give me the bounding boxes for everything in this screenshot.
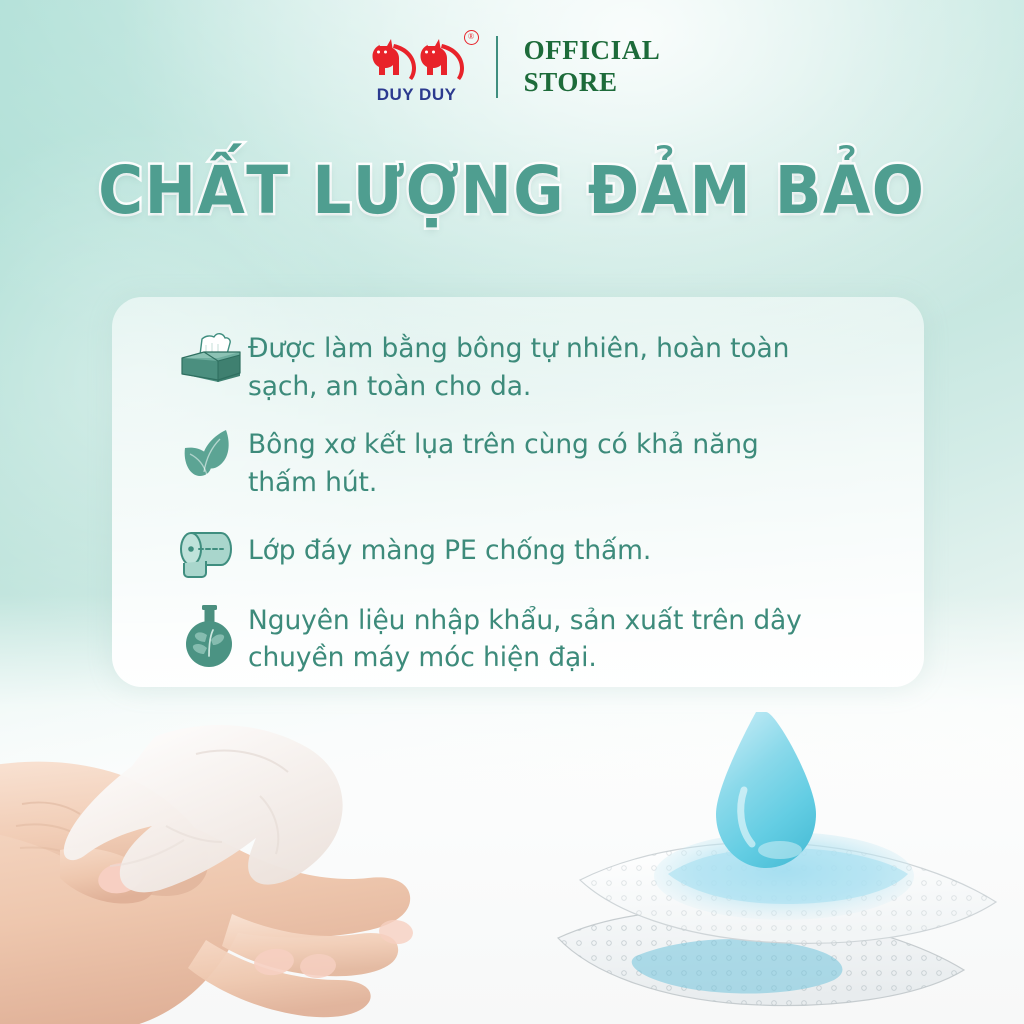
official-store-line-1: OFFICIAL [524,35,661,67]
brand-name: DUY DUY [364,85,470,105]
official-store-label: OFFICIAL STORE [524,35,661,99]
page-title: CHẤT LƯỢNG ĐẢM BẢO [0,152,1024,229]
header-divider [496,36,498,98]
official-store-line-2: STORE [524,67,661,99]
feature-list: Được làm bằng bông tự nhiên, hoàn toàn s… [170,326,900,677]
list-item: Được làm bằng bông tự nhiên, hoàn toàn s… [170,326,900,406]
list-item-label: Nguyên liệu nhập khẩu, sản xuất trên dây… [248,598,823,678]
flask-plant-svg [181,604,237,670]
cats-svg [364,30,470,84]
registered-trademark-icon: ® [464,30,479,45]
droplet-sheet-svg [544,698,1014,1018]
list-item-label: Bông xơ kết lụa trên cùng có khả năng th… [248,422,823,502]
tissue-roll-icon [170,518,248,588]
flask-plant-icon [170,598,248,676]
leaves-icon [170,422,248,492]
duy-duy-logo: ® DUY DUY [364,30,474,105]
water-droplet-on-sheet-photo [544,698,1014,1018]
list-item: Lớp đáy màng PE chống thấm. [170,518,900,588]
tissue-roll-svg [178,525,240,581]
list-item-label: Lớp đáy màng PE chống thấm. [248,518,651,570]
two-red-cats-logo-icon: ® [364,30,470,84]
promo-poster: ® DUY DUY OFFICIAL STORE CHẤT LƯỢNG ĐẢM … [0,0,1024,1024]
list-item-label: Được làm bằng bông tự nhiên, hoàn toàn s… [248,326,823,406]
list-item: Nguyên liệu nhập khẩu, sản xuất trên dây… [170,598,900,678]
tissue-box-svg [176,333,242,389]
leaves-svg [179,427,239,487]
list-item: Bông xơ kết lụa trên cùng có khả năng th… [170,422,900,502]
hands-holding-wet-wipe-photo [0,700,480,1024]
page-title-text: CHẤT LƯỢNG ĐẢM BẢO [98,152,925,229]
tissue-box-icon [170,326,248,396]
brand-header: ® DUY DUY OFFICIAL STORE [0,22,1024,112]
hands-svg [0,700,480,1024]
